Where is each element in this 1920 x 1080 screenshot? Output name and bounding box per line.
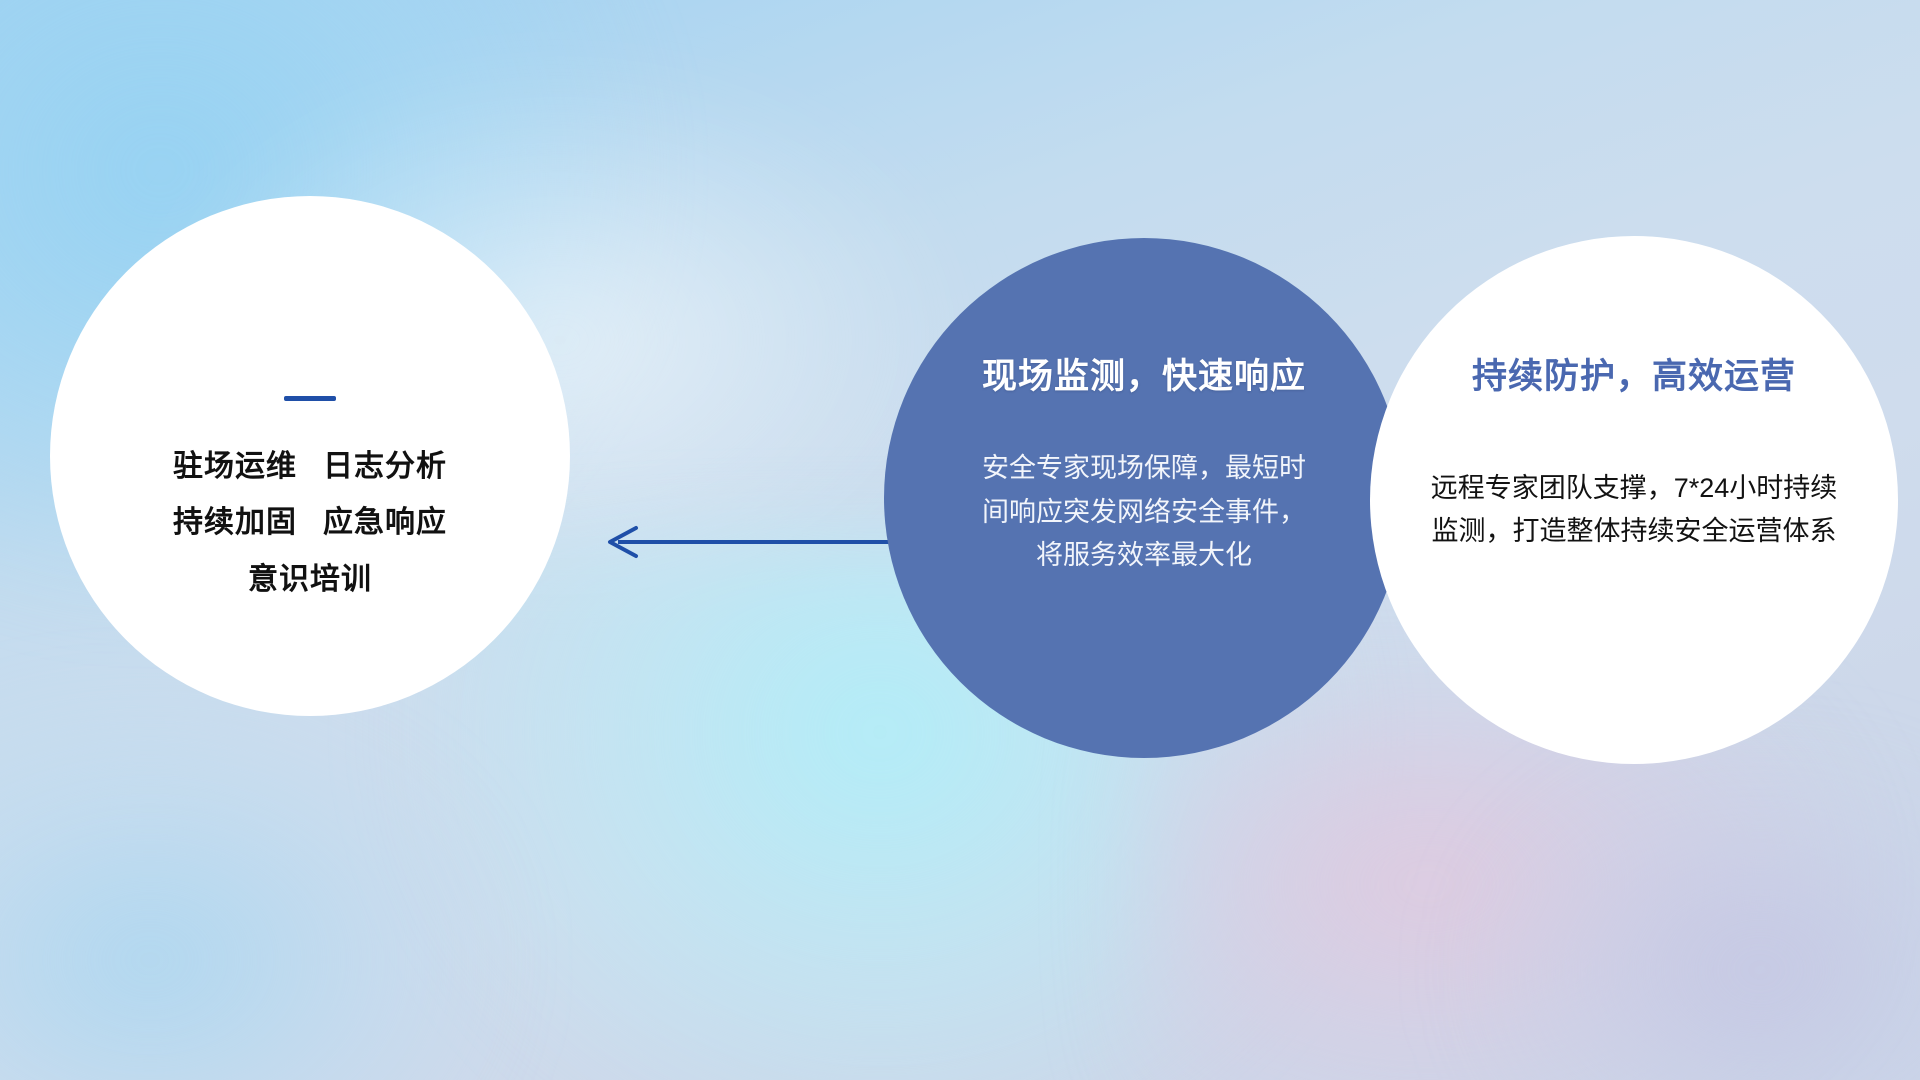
onsite-monitoring-body: 安全专家现场保障，最短时间响应突发网络安全事件，将服务效率最大化 (979, 447, 1309, 578)
continuous-protection-body: 远程专家团队支撑，7*24小时持续监测，打造整体持续安全运营体系 (1424, 467, 1844, 552)
background-glow-bottom-left (0, 700, 500, 1080)
continuous-protection-circle: 持续防护，高效运营 远程专家团队支撑，7*24小时持续监测，打造整体持续安全运营… (1370, 236, 1898, 764)
continuous-protection-title: 持续防护，高效运营 (1472, 348, 1796, 399)
keyword-yingji-xiangying: 应急响应 (323, 506, 447, 539)
slide-canvas: 驻场运维日志分析 持续加固应急响应 意识培训 现场监测，快速响应 安全专家现场保… (0, 0, 1920, 1080)
keyword-rizhi-fenxi: 日志分析 (323, 450, 447, 483)
accent-rule-divider (284, 396, 336, 401)
keyword-row-1: 驻场运维日志分析 (173, 439, 447, 495)
keyword-row-3: 意识培训 (173, 552, 447, 608)
keyword-zhuchang-yunwei: 驻场运维 (173, 450, 297, 483)
keyword-chixu-jiagu: 持续加固 (173, 506, 297, 539)
keyword-yishi-peixun: 意识培训 (248, 563, 372, 596)
capability-keywords-circle: 驻场运维日志分析 持续加固应急响应 意识培训 (50, 196, 570, 716)
keyword-list: 驻场运维日志分析 持续加固应急响应 意识培训 (173, 439, 447, 608)
keyword-row-2: 持续加固应急响应 (173, 495, 447, 551)
onsite-monitoring-title: 现场监测，快速响应 (982, 348, 1306, 399)
leftward-flow-arrow (600, 520, 900, 564)
onsite-monitoring-circle: 现场监测，快速响应 安全专家现场保障，最短时间响应突发网络安全事件，将服务效率最… (884, 238, 1404, 758)
background-glow-lavender (1480, 760, 1920, 1080)
